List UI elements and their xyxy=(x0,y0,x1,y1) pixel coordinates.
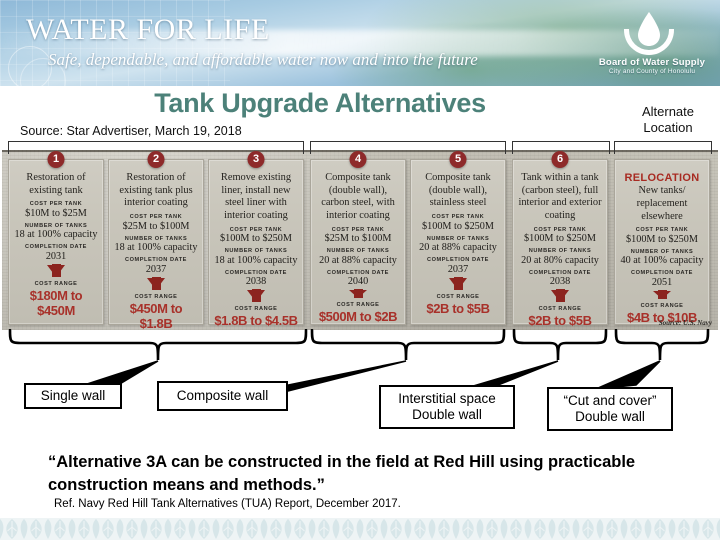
down-arrow-icon-1 xyxy=(47,265,65,277)
number-of-tanks-value-6: 20 at 80% capacity xyxy=(517,255,603,266)
down-arrow-wrap-1 xyxy=(13,265,99,277)
number-of-tanks-label-4: NUMBER OF TANKS xyxy=(315,248,401,254)
cost-per-tank-value-5: $100M to $250M xyxy=(415,221,501,232)
group-bracket-relocation xyxy=(614,141,712,154)
completion-date-label-7: COMPLETION DATE xyxy=(619,270,705,276)
completion-date-label-5: COMPLETION DATE xyxy=(415,257,501,263)
source-attribution: Source: Star Advertiser, March 19, 2018 xyxy=(20,124,242,138)
cost-range-label-3: COST RANGE xyxy=(213,306,299,312)
down-arrow-wrap-2 xyxy=(113,278,199,290)
callout-composite-wall[interactable]: Composite wall xyxy=(157,381,288,411)
cost-range-value-2: $450M to $1.8B xyxy=(113,301,199,331)
alternative-card-4[interactable]: 4 Composite tank (double wall), carbon s… xyxy=(310,159,406,325)
cost-range-value-1: $180M to $450M xyxy=(13,288,99,318)
relocation-subheading: New tanks/ replacement elsewhere xyxy=(619,185,705,223)
completion-date-value-5: 2037 xyxy=(415,264,501,275)
cost-range-label-4: COST RANGE xyxy=(315,302,401,308)
completion-date-value-4: 2040 xyxy=(315,276,401,287)
cost-range-label-1: COST RANGE xyxy=(13,281,99,287)
callout-single-wall[interactable]: Single wall xyxy=(24,383,122,409)
brace-single-wall xyxy=(6,329,310,361)
number-of-tanks-label-7: NUMBER OF TANKS xyxy=(619,249,705,255)
cost-per-tank-value-1: $10M to $25M xyxy=(13,208,99,219)
pull-quote: “Alternative 3A can be constructed in th… xyxy=(48,451,688,497)
footer-leaf-pattern-icon xyxy=(0,518,720,540)
callout-interstitial[interactable]: Interstitial space Double wall xyxy=(379,385,515,429)
cost-per-tank-label-1: COST PER TANK xyxy=(13,201,99,207)
cost-per-tank-label-5: COST PER TANK xyxy=(415,214,501,220)
cost-range-label-2: COST RANGE xyxy=(113,294,199,300)
alternative-card-relocation[interactable]: RELOCATION New tanks/ replacement elsewh… xyxy=(614,159,710,325)
completion-date-label-4: COMPLETION DATE xyxy=(315,270,401,276)
down-arrow-icon-6 xyxy=(551,290,569,302)
navy-source-attribution: Source: U.S. Navy xyxy=(659,319,712,327)
completion-date-label-1: COMPLETION DATE xyxy=(13,244,99,250)
logo-subtitle: City and County of Honolulu xyxy=(596,68,708,75)
down-arrow-wrap-3 xyxy=(213,290,299,302)
number-of-tanks-value-7: 40 at 100% capacity xyxy=(619,255,705,266)
cost-per-tank-label-2: COST PER TANK xyxy=(113,214,199,220)
relocation-heading: RELOCATION xyxy=(619,172,705,185)
cost-range-label-6: COST RANGE xyxy=(517,306,603,312)
down-arrow-wrap-6 xyxy=(517,290,603,302)
cost-range-value-3: $1.8B to $4.5B xyxy=(213,313,299,328)
alternative-heading-3: Remove existing liner, install new steel… xyxy=(213,172,299,223)
number-of-tanks-value-2: 18 at 100% capacity xyxy=(113,242,199,253)
down-arrow-wrap-5 xyxy=(415,278,501,290)
logo-cup-shape xyxy=(624,29,674,55)
number-of-tanks-value-5: 20 at 88% capacity xyxy=(415,242,501,253)
slide-canvas: WATER FOR LIFE Safe, dependable, and aff… xyxy=(0,0,720,540)
down-arrow-icon-3 xyxy=(247,290,265,302)
cost-range-value-4: $500M to $2B xyxy=(315,309,401,324)
page-title: Tank Upgrade Alternatives xyxy=(0,88,640,119)
alternative-badge-5: 5 xyxy=(450,151,467,168)
alternative-badge-6: 6 xyxy=(552,151,569,168)
cost-per-tank-label-7: COST PER TANK xyxy=(619,227,705,233)
alternative-heading-6: Tank within a tank (carbon steel), full … xyxy=(517,172,603,223)
callout-single-wall-label: Single wall xyxy=(41,388,106,404)
logo-name: Board of Water Supply xyxy=(596,57,708,68)
alternative-heading-2: Restoration of existing tank plus interi… xyxy=(113,172,199,210)
number-of-tanks-value-1: 18 at 100% capacity xyxy=(13,229,99,240)
alternative-badge-4: 4 xyxy=(350,151,367,168)
number-of-tanks-value-4: 20 at 88% capacity xyxy=(315,255,401,266)
alternative-heading-5: Composite tank (double wall), stainless … xyxy=(415,172,501,210)
alternative-badge-2: 2 xyxy=(148,151,165,168)
number-of-tanks-label-5: NUMBER OF TANKS xyxy=(415,236,501,242)
cost-range-label-7: COST RANGE xyxy=(619,303,705,309)
cost-per-tank-value-6: $100M to $250M xyxy=(517,233,603,244)
down-arrow-wrap-4 xyxy=(315,290,401,298)
alternate-location-line-1: Alternate xyxy=(620,104,716,120)
pull-quote-reference: Ref. Navy Red Hill Tank Alternatives (TU… xyxy=(54,498,694,510)
down-arrow-icon-4 xyxy=(349,290,367,298)
cost-per-tank-label-4: COST PER TANK xyxy=(315,227,401,233)
alternative-badge-1: 1 xyxy=(48,151,65,168)
cost-per-tank-label-3: COST PER TANK xyxy=(213,227,299,233)
completion-date-value-6: 2038 xyxy=(517,276,603,287)
cost-per-tank-value-3: $100M to $250M xyxy=(213,233,299,244)
alternative-card-3[interactable]: 3 Remove existing liner, install new ste… xyxy=(208,159,304,325)
alternate-location-label: Alternate Location xyxy=(620,104,716,137)
down-arrow-icon-2 xyxy=(147,278,165,290)
down-arrow-icon-7 xyxy=(653,291,671,299)
alternative-heading-1: Restoration of existing tank xyxy=(13,172,99,197)
header-banner: WATER FOR LIFE Safe, dependable, and aff… xyxy=(0,0,720,86)
bws-logo: Board of Water Supply City and County of… xyxy=(596,12,708,82)
completion-date-value-1: 2031 xyxy=(13,251,99,262)
alternative-card-5[interactable]: 5 Composite tank (double wall), stainles… xyxy=(410,159,506,325)
down-arrow-icon-5 xyxy=(449,278,467,290)
cost-per-tank-label-6: COST PER TANK xyxy=(517,227,603,233)
callout-cut-and-cover[interactable]: “Cut and cover” Double wall xyxy=(547,387,673,431)
cost-range-value-6: $2B to $5B xyxy=(517,313,603,328)
footer-pattern xyxy=(0,518,720,540)
alternative-heading-4: Composite tank (double wall), carbon ste… xyxy=(315,172,401,223)
callout-cut-and-cover-line-2: Double wall xyxy=(575,409,645,425)
cost-range-label-5: COST RANGE xyxy=(415,294,501,300)
completion-date-value-2: 2037 xyxy=(113,264,199,275)
banner-title: WATER FOR LIFE xyxy=(26,13,270,47)
brace-cut-and-cover xyxy=(612,329,712,361)
callout-interstitial-line-2: Double wall xyxy=(412,407,482,423)
cost-range-value-5: $2B to $5B xyxy=(415,301,501,316)
completion-date-label-6: COMPLETION DATE xyxy=(517,270,603,276)
alternative-card-2[interactable]: 2 Restoration of existing tank plus inte… xyxy=(108,159,204,325)
number-of-tanks-label-2: NUMBER OF TANKS xyxy=(113,236,199,242)
alternative-card-6[interactable]: 6 Tank within a tank (carbon steel), ful… xyxy=(512,159,608,325)
brace-interstitial xyxy=(510,329,610,361)
callout-composite-wall-label: Composite wall xyxy=(177,388,269,404)
callout-interstitial-line-1: Interstitial space xyxy=(398,391,496,407)
number-of-tanks-label-6: NUMBER OF TANKS xyxy=(517,248,603,254)
number-of-tanks-label-3: NUMBER OF TANKS xyxy=(213,248,299,254)
alternate-location-line-2: Location xyxy=(620,120,716,136)
alternative-badge-3: 3 xyxy=(248,151,265,168)
cost-per-tank-value-4: $25M to $100M xyxy=(315,233,401,244)
brace-composite-wall xyxy=(308,329,508,361)
completion-date-label-3: COMPLETION DATE xyxy=(213,270,299,276)
banner-tagline: Safe, dependable, and affordable water n… xyxy=(48,50,478,70)
number-of-tanks-label-1: NUMBER OF TANKS xyxy=(13,223,99,229)
alternatives-graphic-strip: 1 Restoration of existing tank COST PER … xyxy=(2,150,718,330)
cost-per-tank-value-2: $25M to $100M xyxy=(113,221,199,232)
down-arrow-wrap-7 xyxy=(619,291,705,299)
cost-per-tank-value-7: $100M to $250M xyxy=(619,234,705,245)
completion-date-value-3: 2038 xyxy=(213,276,299,287)
callout-cut-and-cover-line-1: “Cut and cover” xyxy=(563,393,656,409)
number-of-tanks-value-3: 18 at 100% capacity xyxy=(213,255,299,266)
group-bracket-composite xyxy=(310,141,506,154)
completion-date-label-2: COMPLETION DATE xyxy=(113,257,199,263)
alternative-card-1[interactable]: 1 Restoration of existing tank COST PER … xyxy=(8,159,104,325)
completion-date-value-7: 2051 xyxy=(619,277,705,288)
